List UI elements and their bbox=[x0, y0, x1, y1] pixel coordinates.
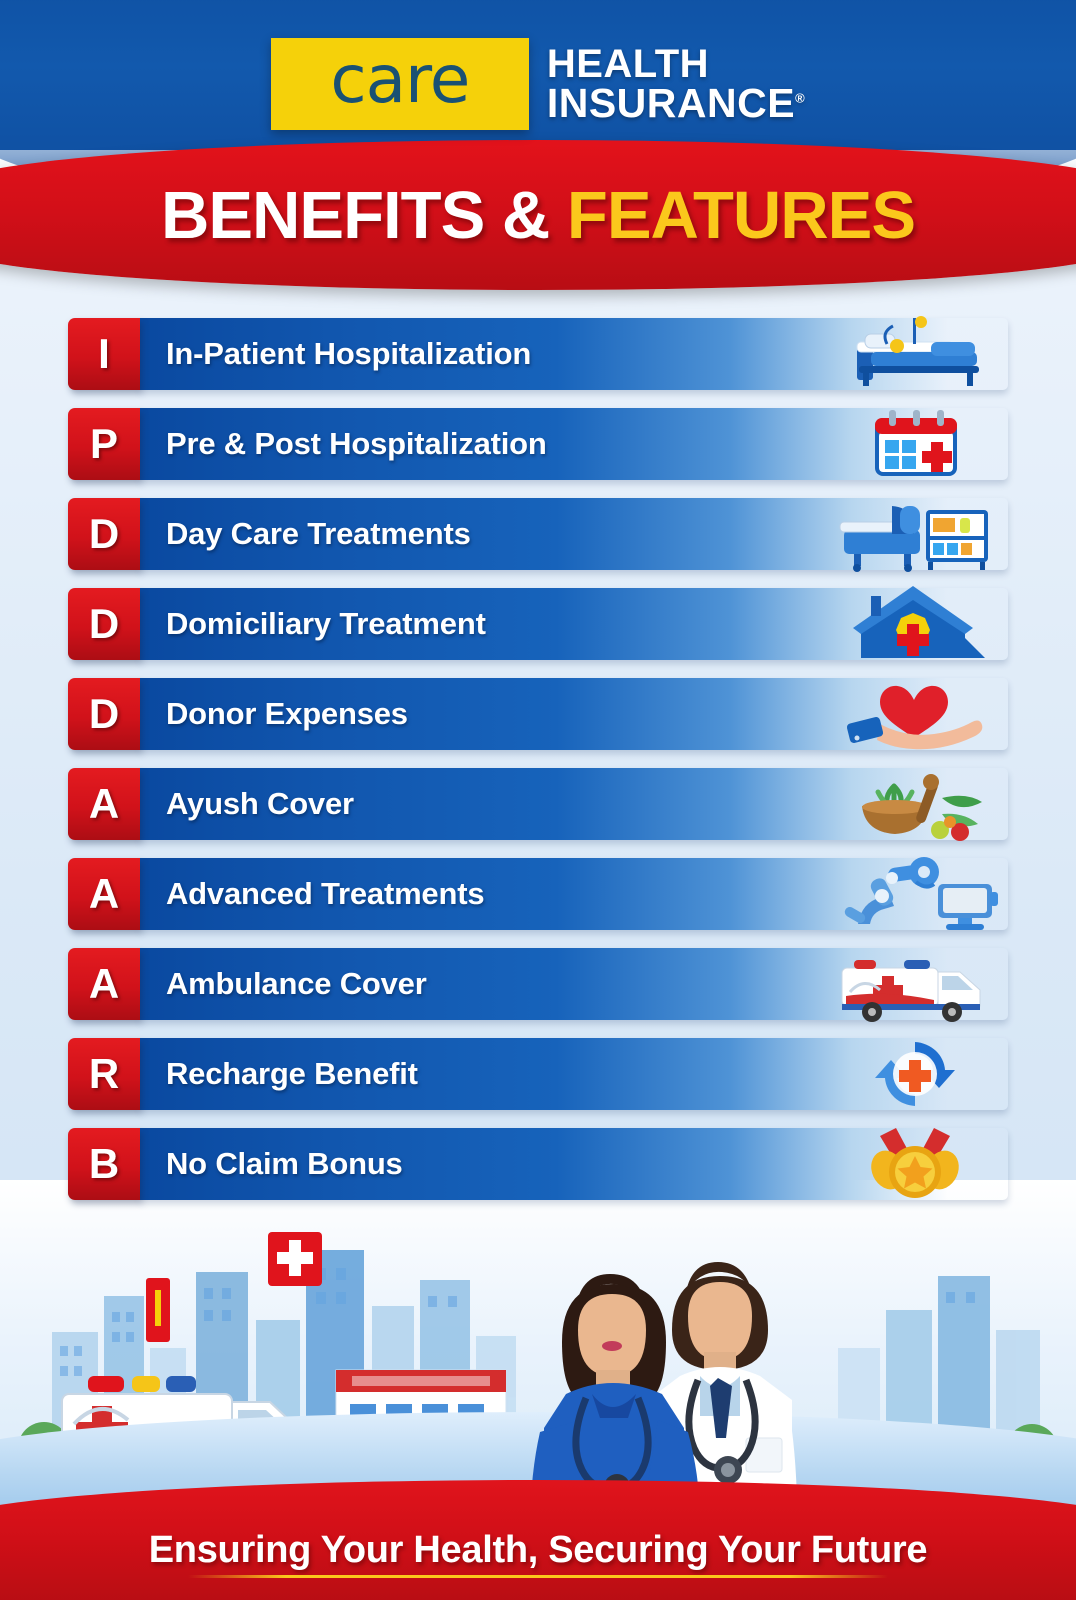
title-features: FEATURES bbox=[567, 178, 915, 253]
benefit-letter-badge: I bbox=[68, 318, 140, 390]
benefit-label: Donor Expenses bbox=[140, 696, 408, 732]
benefit-bar: Pre & Post Hospitalization bbox=[140, 408, 1008, 480]
logo-badge: care bbox=[271, 38, 529, 130]
benefit-letter-badge: B bbox=[68, 1128, 140, 1200]
benefit-bar: In-Patient Hospitalization bbox=[140, 318, 1008, 390]
benefit-bar: Day Care Treatments bbox=[140, 498, 1008, 570]
benefit-bar: Advanced Treatments bbox=[140, 858, 1008, 930]
logo-wordmark: care bbox=[330, 47, 469, 113]
brand-logo: care HEALTH INSURANCE® bbox=[0, 38, 1076, 130]
benefit-label: Domiciliary Treatment bbox=[140, 606, 486, 642]
benefit-label: Ambulance Cover bbox=[140, 966, 427, 1002]
home-medical-icon bbox=[830, 581, 1000, 667]
robotic-arm-monitor-icon bbox=[830, 851, 1000, 937]
benefit-row[interactable]: A Advanced Treatments bbox=[68, 858, 1008, 930]
benefit-label: Advanced Treatments bbox=[140, 876, 484, 912]
refresh-cross-icon bbox=[830, 1031, 1000, 1117]
benefit-letter-badge: A bbox=[68, 858, 140, 930]
benefit-bar: No Claim Bonus bbox=[140, 1128, 1008, 1200]
title-ampersand: & bbox=[502, 178, 549, 253]
benefit-bar: Ambulance Cover bbox=[140, 948, 1008, 1020]
logo-line-health: HEALTH bbox=[547, 45, 805, 83]
benefit-bar: Domiciliary Treatment bbox=[140, 588, 1008, 660]
hospital-bed-icon bbox=[830, 311, 1000, 397]
footer-underline bbox=[188, 1575, 888, 1578]
title-benefits: BENEFITS bbox=[161, 178, 484, 253]
benefit-bar: Ayush Cover bbox=[140, 768, 1008, 840]
benefit-row[interactable]: I In-Patient Hospitalization bbox=[68, 318, 1008, 390]
logo-text-block: HEALTH INSURANCE® bbox=[547, 45, 805, 123]
gold-medal-icon bbox=[830, 1121, 1000, 1207]
benefit-label: In-Patient Hospitalization bbox=[140, 336, 531, 372]
footer-tagline: Ensuring Your Health, Securing Your Futu… bbox=[0, 1529, 1076, 1572]
benefit-row[interactable]: D Day Care Treatments bbox=[68, 498, 1008, 570]
day-care-chair-icon bbox=[830, 491, 1000, 577]
benefit-row[interactable]: A Ambulance Cover bbox=[68, 948, 1008, 1020]
benefit-letter-badge: D bbox=[68, 678, 140, 750]
trademark-symbol: ® bbox=[795, 90, 805, 105]
benefit-row[interactable]: B No Claim Bonus bbox=[68, 1128, 1008, 1200]
benefit-row[interactable]: D Domiciliary Treatment bbox=[68, 588, 1008, 660]
benefit-letter-badge: P bbox=[68, 408, 140, 480]
benefit-letter-badge: R bbox=[68, 1038, 140, 1110]
benefit-row[interactable]: D Donor Expenses bbox=[68, 678, 1008, 750]
benefit-letter-badge: A bbox=[68, 768, 140, 840]
benefit-row[interactable]: A Ayush Cover bbox=[68, 768, 1008, 840]
poster-canvas: care HEALTH INSURANCE® BENEFITS & FEATUR… bbox=[0, 0, 1076, 1600]
logo-insurance-word: INSURANCE bbox=[547, 80, 795, 126]
logo-line-insurance: INSURANCE® bbox=[547, 84, 805, 123]
benefit-label: No Claim Bonus bbox=[140, 1146, 403, 1182]
calendar-medical-icon bbox=[830, 401, 1000, 487]
benefit-row[interactable]: R Recharge Benefit bbox=[68, 1038, 1008, 1110]
benefit-label: Day Care Treatments bbox=[140, 516, 471, 552]
benefit-letter-badge: D bbox=[68, 588, 140, 660]
benefit-letter-badge: D bbox=[68, 498, 140, 570]
benefit-bar: Recharge Benefit bbox=[140, 1038, 1008, 1110]
benefit-row[interactable]: P Pre & Post Hospitalization bbox=[68, 408, 1008, 480]
mortar-pestle-herbs-icon bbox=[830, 761, 1000, 847]
ambulance-icon bbox=[830, 941, 1000, 1027]
benefits-list: I In-Patient Hospitalization bbox=[68, 318, 1008, 1218]
benefit-letter-badge: A bbox=[68, 948, 140, 1020]
benefit-label: Ayush Cover bbox=[140, 786, 354, 822]
benefit-label: Pre & Post Hospitalization bbox=[140, 426, 547, 462]
hand-heart-icon bbox=[830, 671, 1000, 757]
page-title: BENEFITS & FEATURES bbox=[0, 182, 1076, 249]
benefit-label: Recharge Benefit bbox=[140, 1056, 418, 1092]
benefit-bar: Donor Expenses bbox=[140, 678, 1008, 750]
